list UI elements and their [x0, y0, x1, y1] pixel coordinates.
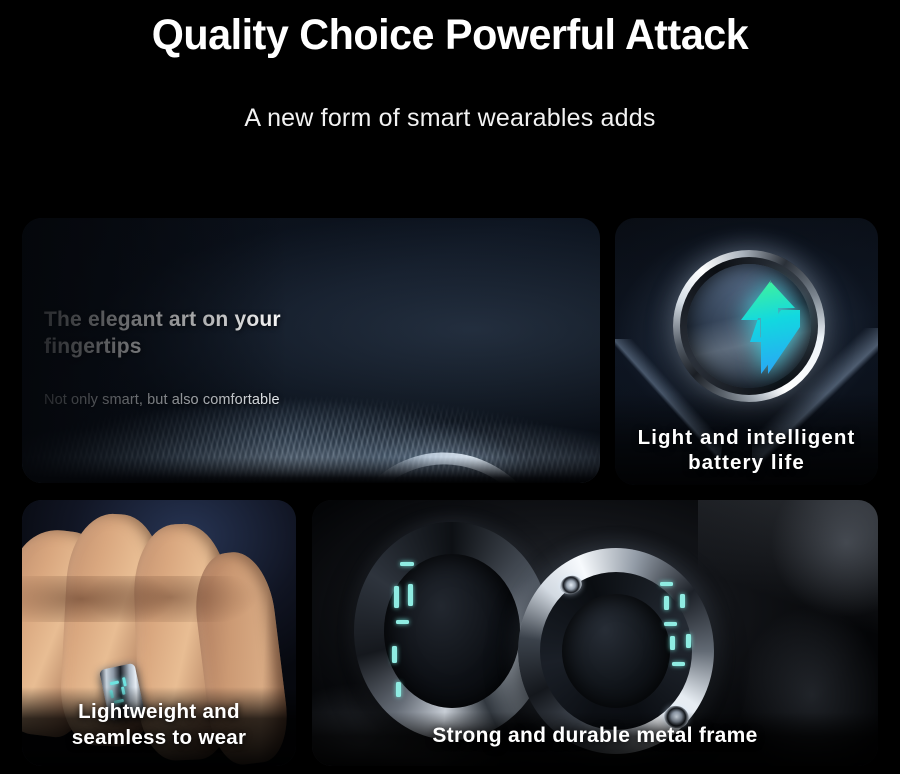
product-feature-page: Quality Choice Powerful Attack A new for…: [0, 0, 900, 774]
card-battery-caption: Light and intelligent battery life: [615, 425, 878, 475]
ring-sensor-spiral-icon: [558, 573, 585, 597]
card-lightweight-wear[interactable]: Lightweight and seamless to wear: [22, 500, 296, 766]
knuckle-shadow: [22, 576, 266, 622]
page-subtitle: A new form of smart wearables adds: [0, 104, 900, 133]
text-overlay-gradient: [22, 218, 288, 483]
card-hand-caption: Lightweight and seamless to wear: [22, 687, 296, 766]
card-frame-caption: Strong and durable metal frame: [312, 712, 878, 766]
card-metal-frame[interactable]: Strong and durable metal frame: [312, 500, 878, 766]
lightning-bolt-icon: [737, 280, 803, 374]
page-title: Quality Choice Powerful Attack: [18, 11, 882, 60]
